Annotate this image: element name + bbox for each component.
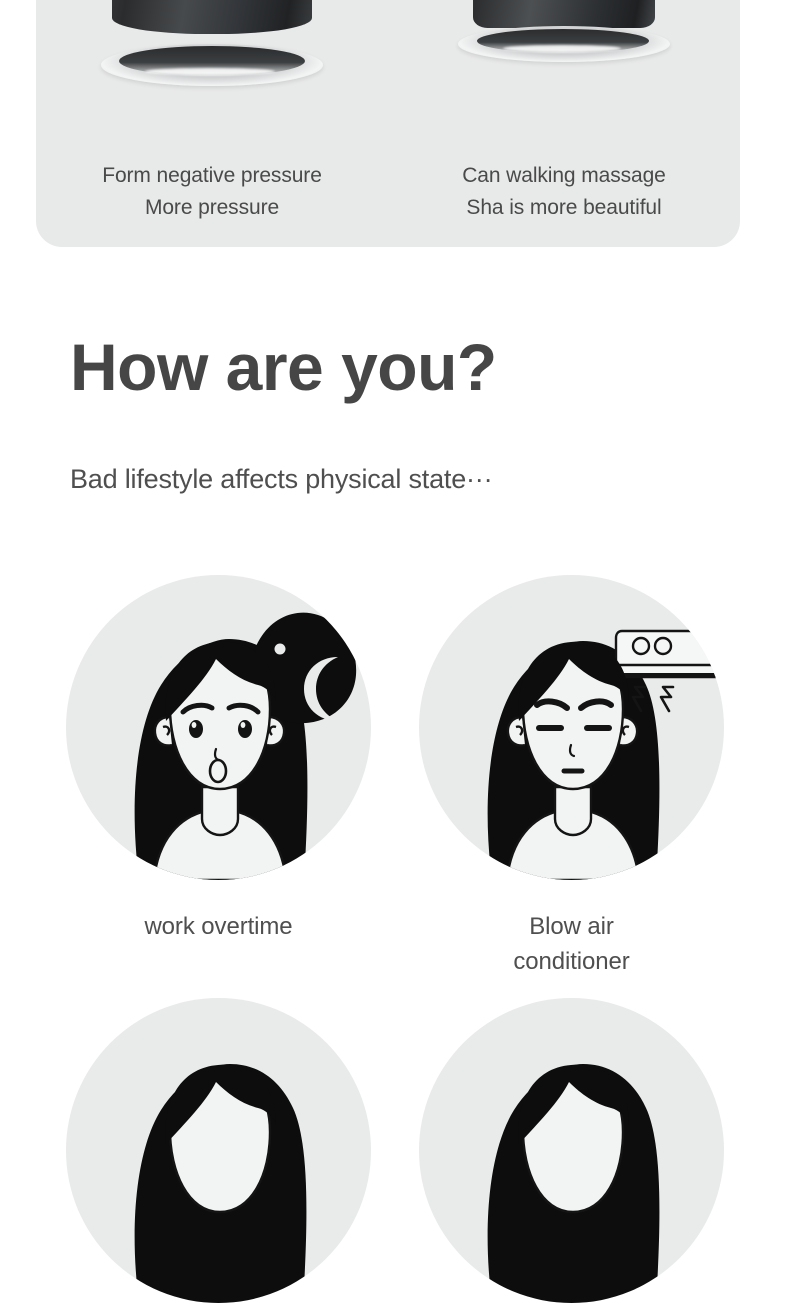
illustration-row-2 — [0, 998, 790, 1303]
illustration-cell-work-overtime: work overtime — [66, 575, 371, 980]
section-subheadline: Bad lifestyle affects physical state··· — [70, 466, 492, 493]
product-caption-2: Can walking massage Sha is more beautifu… — [388, 160, 740, 224]
product-column-2: Can walking massage Sha is more beautifu… — [388, 0, 740, 247]
illustration-caption-air-conditioner: Blow air conditioner — [452, 910, 692, 980]
illustration-row-1: work overtime — [0, 575, 790, 980]
woman-air-conditioner-svg — [419, 575, 724, 880]
woman-partial-right-svg — [419, 998, 724, 1303]
product-caption-2-line2: Sha is more beautiful — [388, 192, 740, 224]
woman-night-moon-illustration — [66, 575, 371, 880]
product-column-1: Form negative pressure More pressure — [36, 0, 388, 247]
woman-partial-left-svg — [66, 998, 371, 1303]
air-conditioner-icon — [616, 631, 724, 677]
illustration-caption-work-overtime: work overtime — [99, 910, 339, 945]
product-feature-card: Form negative pressure More pressure Can… — [36, 0, 740, 247]
lifestyle-illustration-grid: work overtime — [0, 575, 790, 1303]
product-caption-1-line1: Form negative pressure — [36, 160, 388, 192]
woman-partial-bottom-left-illustration — [66, 998, 371, 1303]
woman-partial-bottom-right-illustration — [419, 998, 724, 1303]
illustration-cell-bottom-left — [66, 998, 371, 1303]
woman-air-conditioner-illustration — [419, 575, 724, 880]
product-caption-1: Form negative pressure More pressure — [36, 160, 388, 224]
cupping-cup-suction-image — [101, 0, 323, 86]
illustration-cell-air-conditioner: Blow air conditioner — [419, 575, 724, 980]
cupping-cup-tall-image — [453, 0, 675, 62]
product-caption-2-line1: Can walking massage — [388, 160, 740, 192]
illustration-cell-bottom-right — [419, 998, 724, 1303]
woman-night-moon-svg — [66, 575, 371, 880]
product-columns: Form negative pressure More pressure Can… — [36, 0, 740, 247]
section-headline: How are you? — [70, 334, 497, 400]
product-caption-1-line2: More pressure — [36, 192, 388, 224]
